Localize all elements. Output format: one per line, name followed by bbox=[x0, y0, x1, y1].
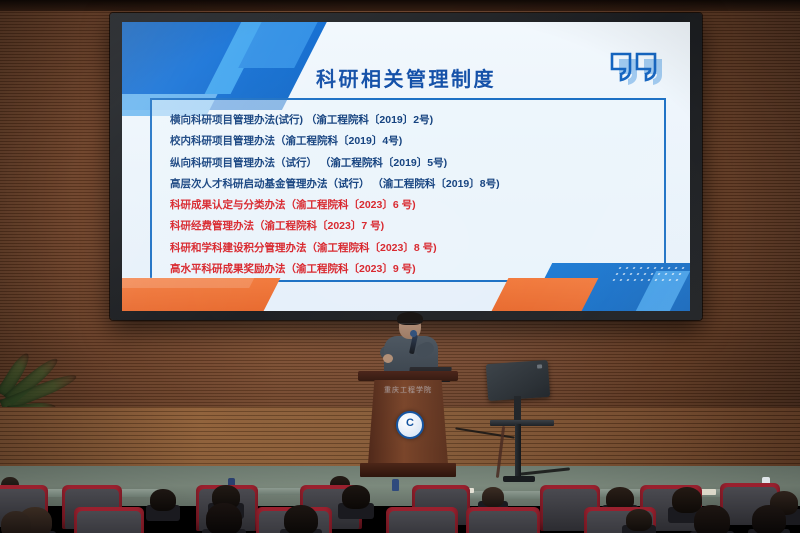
policy-list: 横向科研项目管理办法(试行) （渝工程院科〔2019〕2号) 校内科研项目管理办… bbox=[170, 110, 640, 280]
policy-item: 科研成果认定与分类办法（渝工程院科〔2023〕6 号) bbox=[170, 195, 640, 216]
presenter bbox=[383, 314, 439, 376]
audience-seat bbox=[386, 507, 458, 533]
presentation-slide: 科研相关管理制度 横向科研项目管理办法(试行) （渝工程院科〔2019〕2号) … bbox=[122, 22, 690, 311]
slide-bottom-left-highlight bbox=[122, 277, 255, 288]
policy-item: 横向科研项目管理办法(试行) （渝工程院科〔2019〕2号) bbox=[170, 110, 640, 131]
policy-item: 科研经费管理办法（渝工程院科〔2023〕7 号) bbox=[170, 216, 640, 237]
audience-seat bbox=[74, 507, 144, 533]
audience-seating bbox=[0, 466, 800, 533]
university-crest-logo: C bbox=[396, 411, 424, 439]
crest-glyph: C bbox=[403, 417, 417, 430]
policy-item: 科研和学科建设积分管理办法（渝工程院科〔2023〕8 号) bbox=[170, 238, 640, 259]
audience-member-head bbox=[150, 489, 176, 511]
confidence-monitor bbox=[487, 362, 557, 482]
policy-item: 高层次人才科研启动基金管理办法（试行） （渝工程院科〔2019〕8号) bbox=[170, 174, 640, 195]
audience-member-head bbox=[626, 509, 652, 531]
audience-member-head bbox=[206, 503, 242, 533]
audience-member-head bbox=[284, 505, 318, 533]
podium-nameplate: 重庆工程学院 bbox=[370, 385, 446, 395]
glasses-icon bbox=[400, 323, 420, 329]
audience-member-head bbox=[694, 505, 730, 533]
slide-dot-pattern bbox=[610, 265, 690, 281]
audience-member-head bbox=[1, 511, 31, 533]
audience-member-head bbox=[752, 505, 786, 533]
audience-member-head bbox=[482, 487, 504, 507]
policy-item: 纵向科研项目管理办法（试行） （渝工程院科〔2019〕5号) bbox=[170, 153, 640, 174]
water-bottle bbox=[392, 479, 399, 491]
slide-title: 科研相关管理制度 bbox=[122, 63, 690, 92]
lecture-hall-photo: 科研相关管理制度 横向科研项目管理办法(试行) （渝工程院科〔2019〕2号) … bbox=[0, 0, 800, 533]
slide-bottom-right-orange-shape bbox=[492, 278, 599, 311]
audience-seat bbox=[466, 507, 540, 533]
double-quote-icon bbox=[610, 52, 668, 86]
audience-member-head bbox=[342, 485, 370, 509]
projection-screen[interactable]: 科研相关管理制度 横向科研项目管理办法(试行) （渝工程院科〔2019〕2号) … bbox=[122, 22, 690, 311]
policy-item: 校内科研项目管理办法（渝工程院科〔2019〕4号) bbox=[170, 131, 640, 152]
